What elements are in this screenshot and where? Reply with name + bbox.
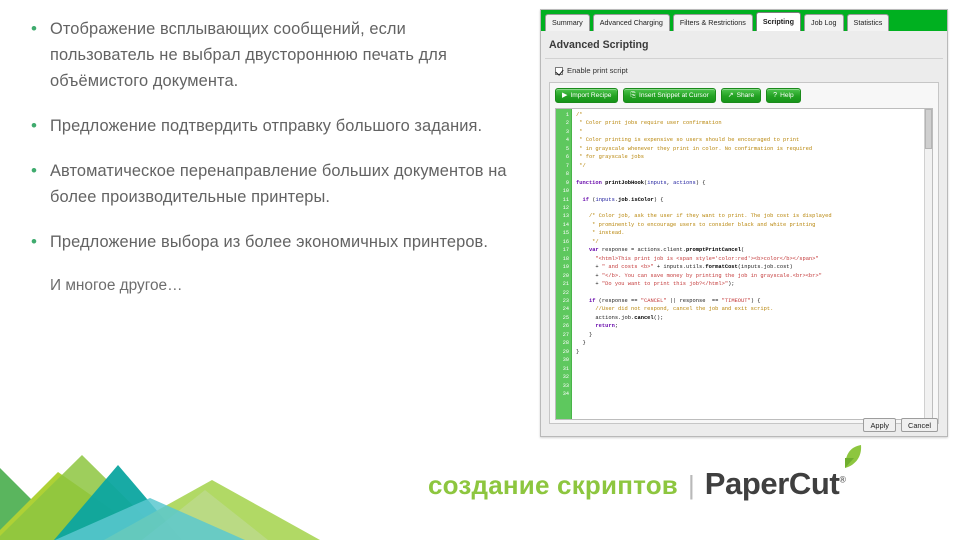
code-token: "</b>. You can save money by printing th… <box>602 273 822 279</box>
editor-scrollbar[interactable] <box>924 109 932 419</box>
line-number: 32 <box>556 373 569 381</box>
brand-divider: | <box>688 470 695 501</box>
code-token: + <box>576 264 602 270</box>
code-token: + inputs.utils. <box>654 264 706 270</box>
code-line: + " and costs <b>" + inputs.utils.format… <box>576 263 924 271</box>
code-line <box>576 382 924 390</box>
toolbar-button-label: Insert Snippet at Cursor <box>639 92 709 99</box>
code-token: "Do you want to print this job?</html>" <box>602 281 728 287</box>
code-line: /* Color job, ask the user if they want … <box>576 212 924 220</box>
page-title: Advanced Scripting <box>541 31 947 58</box>
line-number: 3 <box>556 128 569 136</box>
bullet-text: Автоматическое перенаправление больших д… <box>50 158 514 210</box>
code-line: * prominently to encourage users to cons… <box>576 221 924 229</box>
line-number: 31 <box>556 365 569 373</box>
code-token: */ <box>576 239 599 245</box>
code-line <box>576 289 924 297</box>
list-item: • Предложение подтвердить отправку больш… <box>24 113 514 139</box>
code-line <box>576 365 924 373</box>
code-token <box>576 247 589 253</box>
line-number: 21 <box>556 280 569 288</box>
tab-advanced-charging[interactable]: Advanced Charging <box>593 14 670 31</box>
line-number: 23 <box>556 297 569 305</box>
code-token: printJobHook <box>605 180 644 186</box>
line-number: 4 <box>556 136 569 144</box>
enable-print-script-label: Enable print script <box>567 66 628 75</box>
enable-print-script-row[interactable]: Enable print script <box>541 59 947 82</box>
line-number: 28 <box>556 339 569 347</box>
line-number: 20 <box>556 272 569 280</box>
code-line <box>576 187 924 195</box>
code-token: */ <box>576 163 586 169</box>
toolbar-button-label: Import Recipe <box>570 92 611 99</box>
code-token: isColor <box>631 197 654 203</box>
code-token: function <box>576 180 605 186</box>
line-number: 18 <box>556 255 569 263</box>
code-line: return; <box>576 322 924 330</box>
code-editor[interactable]: 1234567891011121314151617181920212223242… <box>555 108 933 420</box>
line-number-gutter: 1234567891011121314151617181920212223242… <box>556 109 572 419</box>
slide-canvas: • Отображение всплывающих сообщений, есл… <box>0 0 960 540</box>
help-button[interactable]: ?Help <box>766 88 800 103</box>
editor-toolbar: ▶Import Recipe⎘Insert Snippet at Cursor↗… <box>555 88 933 103</box>
tab-bar: SummaryAdvanced ChargingFilters & Restri… <box>541 10 947 31</box>
line-number: 19 <box>556 263 569 271</box>
code-token: || response == <box>667 298 722 304</box>
enable-print-script-checkbox[interactable] <box>555 67 563 75</box>
cancel-button[interactable]: Cancel <box>901 418 938 432</box>
import-recipe-button[interactable]: ▶Import Recipe <box>555 88 618 103</box>
line-number: 12 <box>556 204 569 212</box>
line-number: 9 <box>556 179 569 187</box>
apply-button[interactable]: Apply <box>863 418 896 432</box>
line-number: 29 <box>556 348 569 356</box>
line-number: 15 <box>556 229 569 237</box>
code-line: * Color printing is expensive so users s… <box>576 136 924 144</box>
share-button[interactable]: ↗Share <box>721 88 761 103</box>
bullet-list: • Отображение всплывающих сообщений, есл… <box>24 16 514 298</box>
decorative-triangles <box>0 420 320 540</box>
line-number: 16 <box>556 238 569 246</box>
code-token: ); <box>728 281 734 287</box>
papercut-admin-screenshot: SummaryAdvanced ChargingFilters & Restri… <box>540 9 948 437</box>
tab-summary[interactable]: Summary <box>545 14 590 31</box>
code-token: + <box>576 273 602 279</box>
code-line: */ <box>576 162 924 170</box>
line-number: 26 <box>556 322 569 330</box>
code-token: inputs <box>595 197 614 203</box>
list-item: • Автоматическое перенаправление больших… <box>24 158 514 210</box>
line-number: 34 <box>556 390 569 398</box>
code-token: * Color printing is expensive so users s… <box>576 137 799 143</box>
tab-scripting[interactable]: Scripting <box>756 12 801 31</box>
line-number: 22 <box>556 289 569 297</box>
papercut-leaf-icon <box>841 444 863 470</box>
line-number: 25 <box>556 314 569 322</box>
code-line: * for grayscale jobs <box>576 153 924 161</box>
code-token: "TIMEOUT" <box>722 298 751 304</box>
bullet-marker-icon: • <box>24 229 50 255</box>
code-token: * instead. <box>576 230 625 236</box>
line-number: 30 <box>556 356 569 364</box>
line-number: 24 <box>556 305 569 313</box>
code-token: "<html>This print job is <span style='co… <box>595 256 818 262</box>
bullet-text: Предложение подтвердить отправку большог… <box>50 113 514 139</box>
code-line <box>576 170 924 178</box>
scrollbar-thumb[interactable] <box>925 109 932 149</box>
toolbar-button-label: Help <box>780 92 794 99</box>
line-number: 2 <box>556 119 569 127</box>
code-token: job <box>618 197 628 203</box>
code-token: (inputs.job.cost) <box>738 264 793 270</box>
closing-text: И многое другое… <box>50 274 514 298</box>
bullet-marker-icon: • <box>24 16 50 42</box>
bullet-text: Предложение выбора из более экономичных … <box>50 229 514 255</box>
panel-body: Advanced Scripting Enable print script ▶… <box>541 31 947 437</box>
code-line <box>576 373 924 381</box>
code-line <box>576 204 924 212</box>
code-token: actions <box>673 180 696 186</box>
code-token: response = actions.client. <box>602 247 686 253</box>
code-token <box>576 323 595 329</box>
bullet-marker-icon: • <box>24 158 50 184</box>
code-content[interactable]: /* * Color print jobs require user confi… <box>572 109 924 419</box>
code-token: cancel <box>634 315 653 321</box>
code-line: "<html>This print job is <span style='co… <box>576 255 924 263</box>
code-token: * Color print jobs require user confirma… <box>576 120 722 126</box>
code-token: ) { <box>696 180 706 186</box>
script-editor-container: ▶Import Recipe⎘Insert Snippet at Cursor↗… <box>549 82 939 424</box>
code-token: return <box>595 323 614 329</box>
line-number: 17 <box>556 246 569 254</box>
line-number: 27 <box>556 331 569 339</box>
code-line: + "</b>. You can save money by printing … <box>576 272 924 280</box>
code-token: } <box>576 340 586 346</box>
snippet-icon: ⎘ <box>630 92 636 99</box>
tab-statistics[interactable]: Statistics <box>847 14 890 31</box>
brand-lockup: создание скриптов | PaperCut® <box>428 466 846 502</box>
line-number: 11 <box>556 196 569 204</box>
brand-name: PaperCut <box>705 466 840 501</box>
line-number: 6 <box>556 153 569 161</box>
code-token: formatCost <box>705 264 737 270</box>
code-token: ( <box>741 247 744 253</box>
code-token: inputs <box>647 180 666 186</box>
code-line: * instead. <box>576 229 924 237</box>
line-number: 7 <box>556 162 569 170</box>
code-token: promptPrintCancel <box>686 247 741 253</box>
code-token: ) { <box>751 298 761 304</box>
code-line: * Color print jobs require user confirma… <box>576 119 924 127</box>
code-token: /* <box>576 112 582 118</box>
code-line: + "Do you want to print this job?</html>… <box>576 280 924 288</box>
code-token: ; <box>615 323 618 329</box>
tab-job-log[interactable]: Job Log <box>804 14 844 31</box>
code-line <box>576 356 924 364</box>
code-token: (response == <box>595 298 640 304</box>
line-number: 10 <box>556 187 569 195</box>
code-line: * <box>576 128 924 136</box>
code-line: actions.job.cancel(); <box>576 314 924 322</box>
line-number: 33 <box>556 382 569 390</box>
insert-snippet-at-cursor-button[interactable]: ⎘Insert Snippet at Cursor <box>623 88 715 103</box>
code-token: + <box>576 281 602 287</box>
code-token: * for grayscale jobs <box>576 154 644 160</box>
line-number: 5 <box>556 145 569 153</box>
code-token: " and costs <b>" <box>602 264 654 270</box>
brand-tagline: создание скриптов <box>428 470 678 501</box>
toolbar-button-label: Share <box>737 92 755 99</box>
line-number: 8 <box>556 170 569 178</box>
code-line: //User did not respond, cancel the job a… <box>576 305 924 313</box>
document-import-icon: ▶ <box>562 92 567 99</box>
code-token: //User did not respond, cancel the job a… <box>576 306 773 312</box>
code-token: /* Color job, ask the user if they want … <box>576 213 832 219</box>
list-item: • Отображение всплывающих сообщений, есл… <box>24 16 514 94</box>
bullet-text: Отображение всплывающих сообщений, если … <box>50 16 514 94</box>
code-line: function printJobHook(inputs, actions) { <box>576 179 924 187</box>
code-token: * prominently to encourage users to cons… <box>576 222 815 228</box>
code-token: (); <box>654 315 664 321</box>
code-line: */ <box>576 238 924 246</box>
code-line: * in grayscale whenever they print in co… <box>576 145 924 153</box>
code-token: var <box>589 247 602 253</box>
code-token: } <box>576 332 592 338</box>
code-token: actions.job. <box>576 315 634 321</box>
tab-filters-restrictions[interactable]: Filters & Restrictions <box>673 14 753 31</box>
code-token: } <box>576 349 579 355</box>
code-line: } <box>576 339 924 347</box>
line-number: 1 <box>556 111 569 119</box>
line-number: 13 <box>556 212 569 220</box>
code-token: * in grayscale whenever they print in co… <box>576 146 812 152</box>
code-token: * <box>576 129 582 135</box>
code-token <box>576 298 589 304</box>
brand-trademark: ® <box>839 475 845 485</box>
help-icon: ? <box>773 92 777 99</box>
footer-buttons: Apply Cancel <box>863 418 938 432</box>
code-token: ) { <box>654 197 664 203</box>
code-line: if (inputs.job.isColor) { <box>576 196 924 204</box>
code-line: /* <box>576 111 924 119</box>
code-line: } <box>576 331 924 339</box>
share-icon: ↗ <box>728 92 734 99</box>
code-line <box>576 390 924 398</box>
code-token: "CANCEL" <box>641 298 667 304</box>
code-line: var response = actions.client.promptPrin… <box>576 246 924 254</box>
list-item: • Предложение выбора из более экономичны… <box>24 229 514 255</box>
line-number: 14 <box>556 221 569 229</box>
brand-name-wrap: PaperCut® <box>705 466 846 502</box>
code-line: if (response == "CANCEL" || response == … <box>576 297 924 305</box>
bullet-marker-icon: • <box>24 113 50 139</box>
code-line: } <box>576 348 924 356</box>
code-token <box>576 256 595 262</box>
